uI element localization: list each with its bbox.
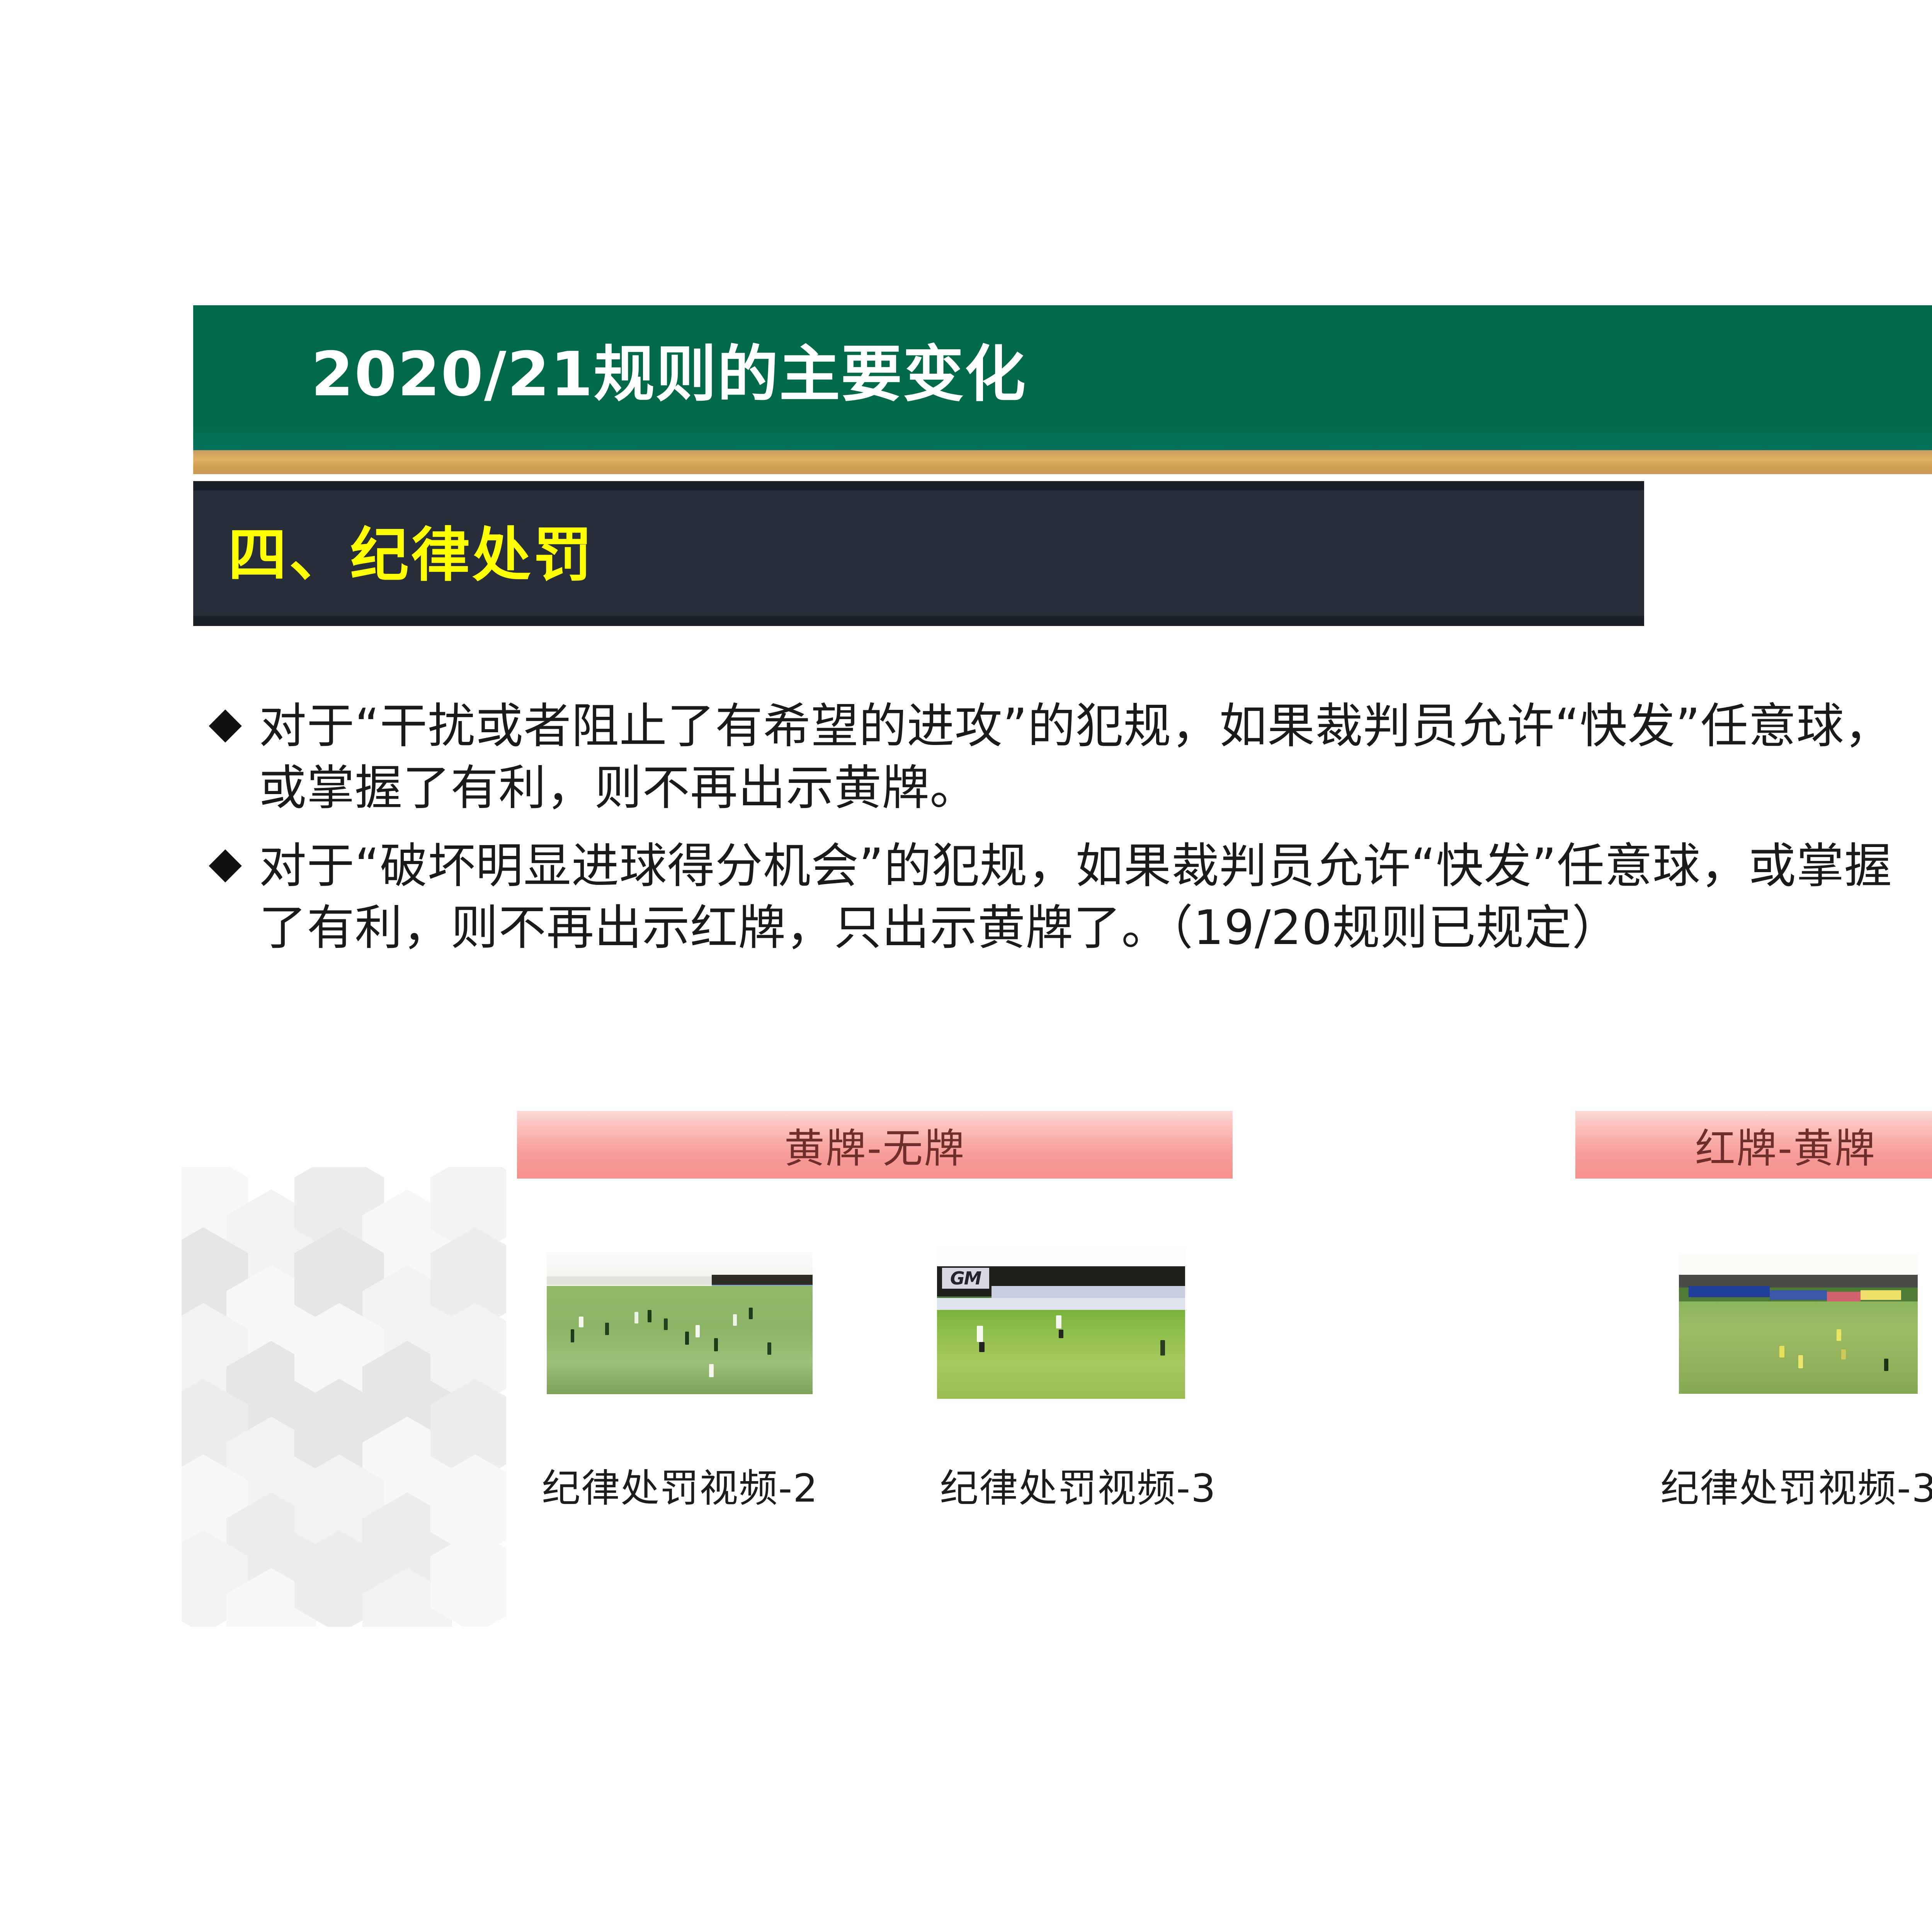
video-thumbnail-2[interactable]: GM (937, 1248, 1185, 1399)
thumb-pitch (547, 1286, 813, 1394)
gm-logo-overlay: GM (942, 1268, 989, 1289)
thumb-dark-band (712, 1275, 813, 1285)
thumb-sky (1679, 1254, 1918, 1278)
bullet-item: ◆ 对于“干扰或者阻止了有希望的进攻”的犯规，如果裁判员允许“快发”任意球， 或… (209, 696, 1932, 819)
thumb-ad-blue-2 (1770, 1290, 1827, 1300)
section-heading-band: 四、纪律处罚 (193, 481, 1644, 626)
band-edge-top (193, 481, 1644, 490)
video-caption-2: 纪律处罚视频-3 (904, 1457, 1252, 1513)
thumb-crowd (1679, 1275, 1918, 1288)
bullet-line: 了有利，则不再出示红牌，只出示黄牌了。（19/20规则已规定） (259, 897, 1932, 959)
thumb-ad-board-lower (937, 1298, 1185, 1310)
thumb-ad-yellow (1861, 1290, 1901, 1300)
band-edge-bottom (193, 616, 1644, 626)
video-caption-1: 纪律处罚视频-2 (506, 1457, 854, 1513)
label-box-text: 红牌-黄牌 (1695, 1116, 1876, 1174)
thumb-pitch (937, 1310, 1185, 1399)
bullet-text: 对于“干扰或者阻止了有希望的进攻”的犯规，如果裁判员允许“快发”任意球， 或掌握… (259, 696, 1932, 819)
bullet-line: 或掌握了有利，则不再出示黄牌。 (259, 757, 1932, 819)
diamond-bullet-icon: ◆ (209, 696, 242, 750)
video-thumbnail-3[interactable] (1679, 1254, 1918, 1394)
bullet-item: ◆ 对于“破坏明显进球得分机会”的犯规，如果裁判员允许“快发”任意球，或掌握 了… (209, 835, 1932, 959)
page-title: 2020/21规则的主要变化 (311, 325, 1026, 413)
thumb-ad-red (1827, 1292, 1861, 1301)
slide-canvas: 2020/21规则的主要变化 CFA 四、纪律处罚 ◆ 对于“干扰或者阻止了有希… (0, 0, 1932, 1917)
section-heading-text: 四、纪律处罚 (228, 507, 594, 592)
label-box-yellow-to-none: 黄牌-无牌 (517, 1111, 1233, 1179)
thumb-pitch (1679, 1301, 1918, 1394)
thumb-ad-blue (1689, 1286, 1770, 1297)
bullet-line: 对于“破坏明显进球得分机会”的犯规，如果裁判员允许“快发”任意球，或掌握 (259, 835, 1932, 897)
video-caption-3: 纪律处罚视频-3 (1584, 1457, 1932, 1513)
header-sheen (193, 423, 1932, 450)
gold-accent-bar (193, 450, 1932, 474)
label-box-text: 黄牌-无牌 (784, 1116, 966, 1174)
hexagon-watermark (182, 1167, 506, 1627)
bullet-list: ◆ 对于“干扰或者阻止了有希望的进攻”的犯规，如果裁判员允许“快发”任意球， 或… (209, 696, 1932, 975)
video-thumbnail-1[interactable] (547, 1252, 813, 1394)
bullet-text: 对于“破坏明显进球得分机会”的犯规，如果裁判员允许“快发”任意球，或掌握 了有利… (259, 835, 1932, 959)
label-box-red-to-yellow: 红牌-黄牌 (1575, 1111, 1932, 1179)
bullet-line: 对于“干扰或者阻止了有希望的进攻”的犯规，如果裁判员允许“快发”任意球， (259, 696, 1932, 757)
diamond-bullet-icon: ◆ (209, 835, 242, 890)
header-bar: 2020/21规则的主要变化 CFA (193, 305, 1932, 450)
